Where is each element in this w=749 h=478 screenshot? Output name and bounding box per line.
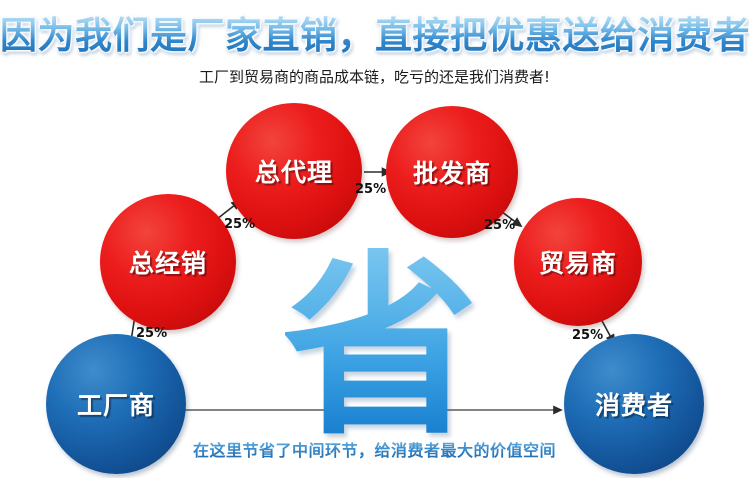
node-wholesaler-label: 批发商 — [413, 154, 491, 190]
node-factory-label: 工厂商 — [77, 386, 155, 422]
node-distributor[interactable]: 总经销 — [100, 194, 236, 330]
markup-label-factory-distributor: 25% — [136, 326, 167, 341]
bottom-caption: 在这里节省了中间环节，给消费者最大的价值空间 — [0, 437, 749, 461]
node-trader[interactable]: 贸易商 — [514, 198, 642, 326]
promo-banner: 因为我们是厂家直销，直接把优惠送给消费者 工厂到贸易商的商品成本链，吃亏的还是我… — [0, 0, 749, 478]
markup-label-wholesaler-trader: 25% — [484, 218, 515, 233]
markup-label-agent-wholesaler: 25% — [355, 182, 386, 197]
node-consumer-label: 消费者 — [595, 386, 673, 422]
markup-label-trader-consumer: 25% — [572, 328, 603, 343]
node-agent-label: 总代理 — [255, 153, 333, 189]
markup-label-distributor-agent: 25% — [224, 217, 255, 232]
node-distributor-label: 总经销 — [129, 244, 207, 280]
node-trader-label: 贸易商 — [539, 244, 617, 280]
